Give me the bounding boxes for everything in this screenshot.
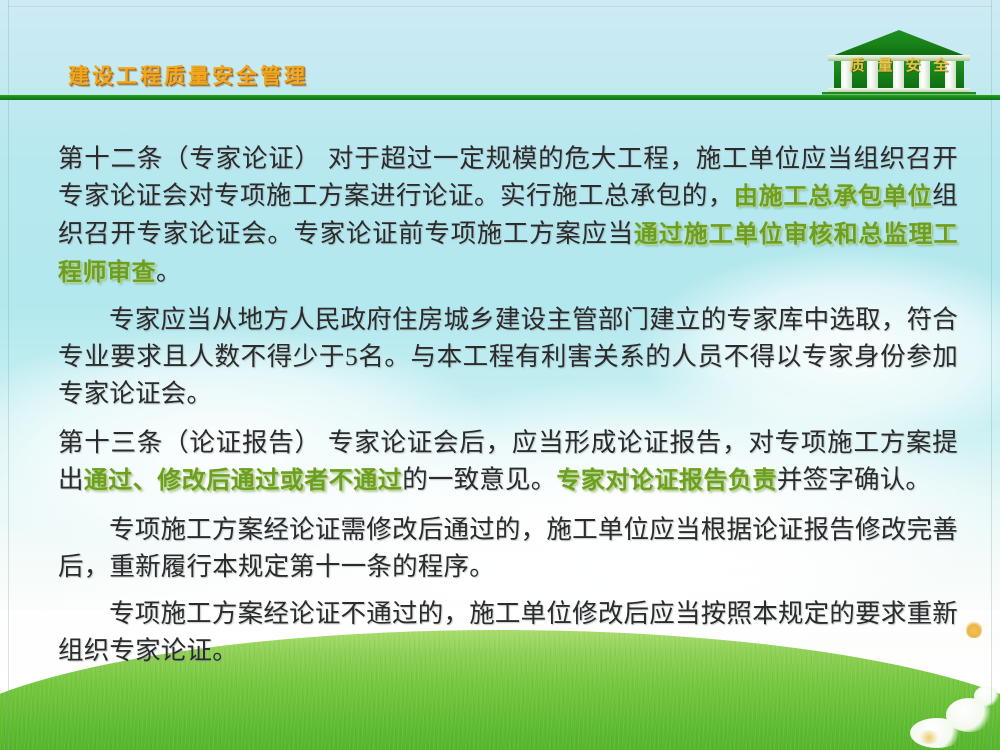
body-text: 专家应当从地方人民政府住房城乡建设主管部门建立的专家库中选取，符合专业要求且人数… xyxy=(58,305,958,408)
sprig-icon xyxy=(918,730,940,744)
highlighted-text: 通过、修改后通过或者不通过 xyxy=(84,466,403,494)
frame-line-left xyxy=(8,0,9,750)
quality-safety-temple-logo: 质量安全 xyxy=(814,26,984,100)
slide-canvas: 质量安全 建设工程质量安全管理 第十二条（专家论证） 对于超过一定规模的危大工程… xyxy=(0,0,1000,750)
body-text: 的一致意见。 xyxy=(402,465,556,494)
slide-body: 第十二条（专家论证） 对于超过一定规模的危大工程，施工单位应当组织召开专家论证会… xyxy=(58,140,958,675)
frame-line-right xyxy=(991,0,992,750)
body-text: 专项施工方案经论证需修改后通过的，施工单位应当根据论证报告修改完善后，重新履行本… xyxy=(58,515,958,581)
highlighted-text: 由施工总承包单位 xyxy=(734,182,932,210)
sprig-icon xyxy=(966,620,982,638)
page-title: 建设工程质量安全管理 xyxy=(68,60,308,90)
paragraph-article-13-revise: 专项施工方案经论证需修改后通过的，施工单位应当根据论证报告修改完善后，重新履行本… xyxy=(58,511,958,585)
paragraph-article-13-reject: 专项施工方案经论证不通过的，施工单位修改后应当按照本规定的要求重新组织专家论证。 xyxy=(58,595,958,669)
body-text: 并签字确认。 xyxy=(777,465,931,494)
slide-header: 质量安全 建设工程质量安全管理 xyxy=(0,0,1000,104)
body-text: 专项施工方案经论证不通过的，施工单位修改后应当按照本规定的要求重新组织专家论证。 xyxy=(58,599,958,665)
paragraph-article-12: 第十二条（专家论证） 对于超过一定规模的危大工程，施工单位应当组织召开专家论证会… xyxy=(58,140,958,291)
header-rule xyxy=(0,95,1000,100)
paragraph-article-12-experts: 专家应当从地方人民政府住房城乡建设主管部门建立的专家库中选取，符合专业要求且人数… xyxy=(58,301,958,412)
body-text: 。 xyxy=(156,257,182,286)
highlighted-text: 专家对论证报告负责 xyxy=(556,466,777,494)
paragraph-article-13: 第十三条（论证报告） 专家论证会后，应当形成论证报告，对专项施工方案提出通过、修… xyxy=(58,424,958,499)
